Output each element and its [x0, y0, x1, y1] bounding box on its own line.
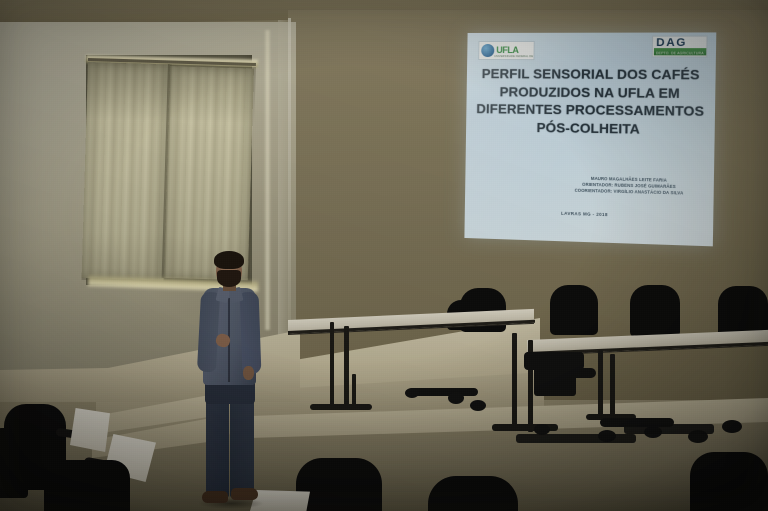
ufla-logo-subtitle: UNIVERSIDADE FEDERAL DE LAVRAS — [494, 55, 535, 58]
presenter-shoe-right — [231, 488, 258, 500]
presenter-leg-right — [230, 398, 254, 498]
foreground-desk-rail-2 — [624, 424, 714, 434]
wall-corner-edge — [288, 18, 291, 348]
dag-logo-icon: DAG DEPTO. DE AGRICULTURA — [652, 36, 708, 58]
table-leg-g — [610, 354, 615, 418]
slide-title-line-2: PRODUZIDOS NA UFLA EM — [475, 83, 707, 103]
presentation-slide: UFLA UNIVERSIDADE FEDERAL DE LAVRAS DAG … — [464, 32, 716, 246]
tablet-chair-back-3 — [44, 460, 130, 511]
curtain-left-panel — [82, 62, 170, 281]
dag-logo-subtitle: DEPTO. DE AGRICULTURA — [656, 51, 704, 55]
presenter — [186, 248, 272, 510]
ufla-wordmark: UFLA — [496, 46, 518, 55]
table-leg-f — [598, 350, 603, 416]
ufla-logo-icon: UFLA UNIVERSIDADE FEDERAL DE LAVRAS — [478, 41, 535, 60]
table-foot-a — [310, 404, 372, 410]
office-chair-back-2 — [550, 285, 598, 335]
presenter-shoe-left — [202, 491, 228, 503]
foreground-chair-2 — [428, 476, 518, 511]
slide-place-year: LAVRAS MG - 2018 — [517, 209, 654, 218]
presenter-beard — [217, 270, 241, 287]
foreground-chair-3 — [690, 452, 768, 511]
table-leg-a — [330, 322, 334, 406]
projection-screen: UFLA UNIVERSIDADE FEDERAL DE LAVRAS DAG … — [464, 32, 716, 246]
slide-title-line-3: DIFERENTES PROCESSAMENTOS — [474, 100, 706, 120]
slide-title-line-1: PERFIL SENSORIAL DOS CAFÉS — [475, 65, 707, 84]
slide-title-line-4: PÓS-COLHEITA — [474, 118, 706, 139]
presentation-photo: UFLA UNIVERSIDADE FEDERAL DE LAVRAS DAG … — [0, 0, 768, 511]
presenter-arm-right — [240, 292, 262, 375]
ufla-globe-icon — [481, 44, 494, 57]
caster-1 — [405, 388, 419, 398]
presenter-hair — [214, 251, 244, 269]
presenter-hand-right — [243, 366, 254, 380]
foreground-chair-1 — [296, 458, 382, 511]
office-chair-seat-mid-2 — [534, 366, 576, 396]
foreground-desk-rail — [516, 434, 636, 443]
caster-8 — [722, 420, 742, 433]
office-chair-back-3 — [630, 285, 680, 337]
table-leg-d — [512, 333, 517, 425]
presenter-leg-left — [206, 398, 229, 498]
caster-2 — [448, 392, 464, 404]
slide-title: PERFIL SENSORIAL DOS CAFÉS PRODUZIDOS NA… — [474, 65, 707, 139]
table-leg-b — [344, 326, 349, 410]
table-leg-c — [352, 374, 356, 406]
slide-author-block: MAURO MAGALHÃES LEITE FARIA ORIENTADOR: … — [562, 175, 697, 197]
tablet-arm-surface-1 — [70, 408, 110, 452]
caster-3 — [470, 400, 486, 411]
